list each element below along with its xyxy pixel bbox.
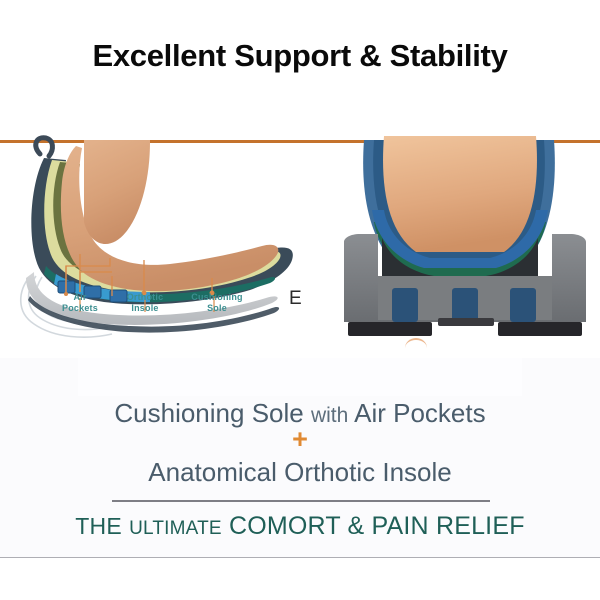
tagline-the: THE <box>75 513 122 539</box>
shoe-rear-view-illustration <box>330 126 600 358</box>
tagline-rest: COMORT & PAIN RELIEF <box>229 512 525 540</box>
callout-cushioning-sole-line2: Sole <box>182 303 252 314</box>
feature-cushioning-sole: Cushioning Sole <box>114 398 303 428</box>
feature-panel-inner <box>78 358 522 396</box>
heel-skin <box>383 136 537 252</box>
callout-cushioning-sole-line1: Cushioning <box>182 292 252 303</box>
callout-air-pockets-line1: Air <box>52 292 108 303</box>
shoe-side-cutaway-illustration <box>0 126 320 358</box>
air-pillars <box>392 288 536 322</box>
promo-graphic: Excellent Support & Stability <box>0 0 600 600</box>
illustration-band <box>0 126 600 358</box>
callout-orthotic-insole-line2: Insole <box>112 303 178 314</box>
page-title: Excellent Support & Stability <box>0 38 600 74</box>
callout-air-pockets: Air Pockets <box>52 292 108 314</box>
shoe-side-svg <box>0 126 320 358</box>
stray-letter-e: E <box>289 289 302 308</box>
callout-orthotic-insole-line1: Orthotic <box>112 292 178 303</box>
shoe-rear-svg <box>330 126 600 358</box>
callout-cushioning-sole: Cushioning Sole <box>182 292 252 314</box>
heel-pull-loop <box>36 138 53 156</box>
callout-orthotic-insole: Orthotic Insole <box>112 292 178 314</box>
ankle <box>84 140 150 244</box>
callout-air-pockets-line2: Pockets <box>52 303 108 314</box>
feature-air-pockets: Air Pockets <box>354 398 486 428</box>
tagline: THE ULTIMATE COMORT & PAIN RELIEF <box>0 512 600 541</box>
tagline-ultimate: ULTIMATE <box>129 518 222 539</box>
bottom-whitespace <box>0 558 600 600</box>
feature-line-2: Anatomical Orthotic Insole <box>0 457 600 488</box>
feature-with: with <box>311 404 348 427</box>
plus-icon: + <box>0 426 600 453</box>
tagline-divider <box>112 500 490 502</box>
